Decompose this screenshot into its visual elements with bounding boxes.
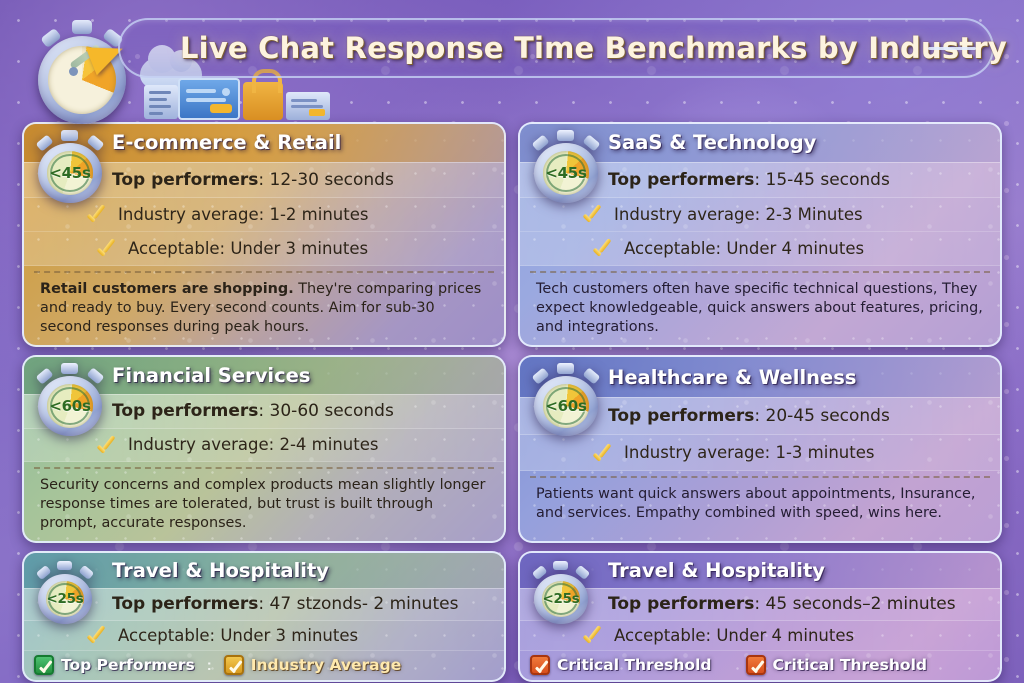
legend: Top Performers : Industry Average — [24, 651, 504, 680]
top-performers-value: 12-30 seconds — [270, 170, 394, 190]
card-title: Financial Services — [112, 364, 310, 387]
card-travel-hospitality-right[interactable]: <25s Travel & Hospitality Top performers… — [518, 551, 1002, 682]
top-performers-value: 47 stzonds- 2 minutes — [270, 594, 459, 614]
legend-label: Industry Average — [251, 656, 401, 674]
badge-value: <25s — [47, 591, 84, 607]
card-note-rest: Security concerns and complex products m… — [40, 477, 485, 531]
legend-item-critical-threshold-2[interactable]: Critical Threshold — [746, 655, 928, 675]
header: Live Chat Response Time Benchmarks by In… — [0, 0, 1024, 118]
badge-value: <25s — [543, 591, 580, 607]
check-icon — [582, 205, 604, 223]
check-row: Industry average: 1-3 minutes — [520, 435, 1000, 471]
check-label: Acceptable: Under 4 minutes — [624, 239, 864, 258]
checkbox-checked-icon[interactable] — [34, 655, 54, 675]
page-title: Live Chat Response Time Benchmarks by In… — [180, 22, 920, 74]
badge-value: <60s — [545, 397, 586, 415]
check-icon — [582, 626, 604, 644]
top-performers-value: 15-45 seconds — [766, 170, 890, 190]
stopwatch-badge-icon: <45s — [32, 130, 108, 206]
check-icon — [86, 205, 108, 223]
card-title: E-commerce & Retail — [112, 131, 341, 154]
stopwatch-badge-icon: <60s — [528, 363, 604, 439]
check-icon — [592, 239, 614, 257]
card-note-rest: Patients want quick answers about appoin… — [536, 486, 975, 521]
stopwatch-badge-icon: <25s — [32, 561, 98, 627]
top-performers-label: Top performers — [112, 594, 258, 614]
card-financial-services[interactable]: <60s Financial Services Top performers: … — [22, 355, 506, 543]
badge-value: <45s — [49, 164, 90, 182]
legend-label: Critical Threshold — [773, 656, 928, 674]
check-row: Acceptable: Under 3 minutes — [24, 232, 504, 266]
top-performers-label: Top performers — [608, 170, 754, 190]
top-performers-label: Top performers — [608, 406, 754, 426]
check-label: Industry average: 1-2 minutes — [118, 205, 368, 224]
top-performers-value: 30-60 seconds — [270, 401, 394, 421]
top-performers-value: 45 seconds–2 minutes — [766, 594, 956, 614]
stopwatch-badge-icon: <60s — [32, 363, 108, 439]
chat-card-icon — [178, 78, 240, 120]
check-label: Industry average: 2-3 Minutes — [614, 205, 863, 224]
card-travel-hospitality-left[interactable]: <25s Travel & Hospitality Top performers… — [22, 551, 506, 682]
top-performers-label: Top performers — [112, 170, 258, 190]
shopping-bag-icon — [243, 82, 283, 120]
stopwatch-badge-icon: <45s — [528, 130, 604, 206]
top-performers-label: Top performers — [112, 401, 258, 421]
infographic-canvas: Live Chat Response Time Benchmarks by In… — [0, 0, 1024, 683]
cards-grid: <45s E-commerce & Retail Top performers:… — [22, 122, 1002, 674]
card-note: Retail customers are shopping. They're c… — [24, 273, 504, 345]
card-healthcare-wellness[interactable]: <60s Healthcare & Wellness Top performer… — [518, 355, 1002, 543]
legend-item-critical-threshold-1[interactable]: Critical Threshold — [530, 655, 712, 675]
checkbox-checked-icon[interactable] — [224, 655, 244, 675]
legend-label: Top Performers — [61, 656, 195, 674]
card-note-bold: Retail customers are shopping. — [40, 281, 294, 297]
check-icon — [86, 626, 108, 644]
legend-item-industry-average[interactable]: Industry Average — [224, 655, 401, 675]
check-label: Acceptable: Under 3 minutes — [128, 239, 368, 258]
card-title: Travel & Hospitality — [112, 559, 329, 582]
card-title: Healthcare & Wellness — [608, 366, 856, 389]
check-label: Acceptable: Under 3 minutes — [118, 626, 358, 645]
card-saas-technology[interactable]: <45s SaaS & Technology Top performers: 1… — [518, 122, 1002, 347]
card-icon — [286, 92, 330, 120]
check-row: Acceptable: Under 4 minutes — [520, 232, 1000, 266]
document-icon — [144, 85, 178, 119]
card-ecommerce-retail[interactable]: <45s E-commerce & Retail Top performers:… — [22, 122, 506, 347]
card-note: Tech customers often have specific techn… — [520, 273, 1000, 345]
card-note: Patients want quick answers about appoin… — [520, 478, 1000, 541]
top-performers-value: 20-45 seconds — [766, 406, 890, 426]
checkbox-checked-icon[interactable] — [746, 655, 766, 675]
check-icon — [96, 239, 118, 257]
stopwatch-badge-icon: <25s — [528, 561, 594, 627]
legend-label: Critical Threshold — [557, 656, 712, 674]
card-note-rest: Tech customers often have specific techn… — [536, 281, 983, 335]
check-label: Acceptable: Under 4 minutes — [614, 626, 854, 645]
legend: Critical Threshold Critical Threshold — [520, 651, 1000, 680]
check-icon — [592, 444, 614, 462]
badge-value: <45s — [545, 164, 586, 182]
stopwatch-icon — [30, 18, 134, 122]
card-note: Security concerns and complex products m… — [24, 469, 504, 541]
check-label: Industry average: 2-4 minutes — [128, 435, 378, 454]
card-title: Travel & Hospitality — [608, 559, 825, 582]
legend-separator: : — [205, 657, 214, 674]
top-performers-label: Top performers — [608, 594, 754, 614]
checkbox-checked-icon[interactable] — [530, 655, 550, 675]
check-label: Industry average: 1-3 minutes — [624, 443, 874, 462]
legend-item-top-performers[interactable]: Top Performers — [34, 655, 195, 675]
card-title: SaaS & Technology — [608, 131, 816, 154]
title-rule — [928, 47, 976, 50]
stopwatch-crown-icon — [72, 20, 92, 34]
stopwatch-pin — [69, 67, 78, 76]
badge-value: <60s — [49, 397, 90, 415]
